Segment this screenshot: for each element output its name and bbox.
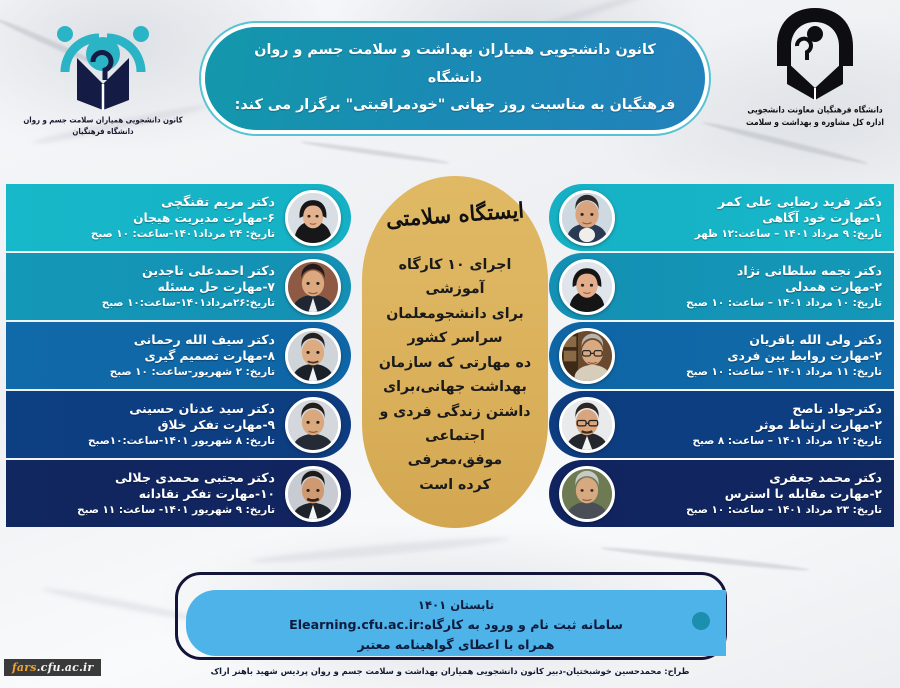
- header-line-1: کانون دانشجویی همیاران بهداشت و سلامت جس…: [231, 37, 679, 93]
- speaker-info: دکتر سید عدنان حسینی ۹-مهارت تفکر خلاق ت…: [14, 401, 285, 448]
- speaker-skill: ۹-مهارت تفکر خلاق: [18, 418, 275, 433]
- capsule-line: برای دانشجومعلمان: [376, 302, 534, 326]
- avatar: [559, 328, 615, 384]
- speaker-name: دکتر محمد جعفری: [625, 470, 882, 486]
- footer-certificate-note: همراه با اعطای گواهینامه معتبر: [204, 635, 708, 655]
- avatar: [285, 466, 341, 522]
- speaker-datetime: تاریخ: ۱۲ مرداد ۱۴۰۱ – ساعت: ۸ صبح: [625, 435, 882, 448]
- speaker-info: دکتر مجتبی محمدی جلالی ۱۰-مهارت تفکر نقا…: [14, 470, 285, 517]
- avatar: [285, 397, 341, 453]
- avatar-valiollah-bagherian: [562, 331, 612, 381]
- capsule-line: داشتن زندگی فردی و: [376, 400, 534, 424]
- capsule-line: اجتماعی موفق،معرفی: [376, 424, 534, 473]
- speaker-skill: ۸-مهارت تصمیم گیری: [18, 349, 275, 364]
- speaker-name: دکترجواد ناصح: [625, 401, 882, 417]
- speaker-info: دکتر نجمه سلطانی نژاد ۲-مهارت همدلی تاری…: [615, 263, 886, 310]
- speaker-card[interactable]: دکتر سیف الله رحمانی ۸-مهارت تصمیم گیری …: [6, 322, 351, 389]
- designer-credit: طراح: محمدحسین خوشبختیان-دبیر کانون دانش…: [0, 666, 900, 676]
- avatar-mojtaba-mohammadi-jalali: [288, 469, 338, 519]
- avatar-farid-rezaei-ali-kamar: [562, 193, 612, 243]
- speaker-card[interactable]: دکتر احمدعلی تاجدین ۷-مهارت حل مسئله تار…: [6, 253, 351, 320]
- capsule-line: ده مهارتی که سازمان: [376, 351, 534, 375]
- speaker-skill: ۲-مهارت روابط بین فردی: [625, 349, 882, 364]
- speaker-datetime: تاریخ: ۱۰ مرداد ۱۴۰۱ – ساعت: ۱۰ صبح: [625, 297, 882, 310]
- speaker-name: دکتر ولی الله باقریان: [625, 332, 882, 348]
- footer-season: تابستان ۱۴۰۱: [204, 596, 708, 615]
- avatar: [285, 259, 341, 315]
- speaker-skill: ۲-مهارت همدلی: [625, 280, 882, 295]
- speaker-datetime: تاریخ: ۹ شهریور ۱۴۰۱- ساعت: ۱۱ صبح: [18, 504, 275, 517]
- health-station-capsule: ایستگاه سلامتی اجرای ۱۰ کارگاه آموزشی بر…: [362, 176, 548, 528]
- left-speaker-column: دکتر مریم تفنگچی ۶-مهارت مدیریت هیجان تا…: [6, 184, 351, 529]
- speaker-name: دکتر سید عدنان حسینی: [18, 401, 275, 417]
- capsule-line: سراسر کشور: [376, 326, 534, 350]
- university-logo: دانشگاه فرهنگیان معاونت دانشجویی اداره ک…: [740, 4, 890, 128]
- association-logo-caption: کانون دانشجویی همیاران سلامت جسم و روان …: [18, 114, 188, 137]
- watermark-suffix: .cfu.ac.ir: [37, 661, 94, 674]
- avatar-mohammad-jafari: [562, 469, 612, 519]
- speaker-datetime: تاریخ:۲۶مرداد۱۴۰۱-ساعت:۱۰ صبح: [18, 297, 275, 310]
- marble-vein: [250, 534, 510, 567]
- speaker-name: دکتر مجتبی محمدی جلالی: [18, 470, 275, 486]
- capsule-title: ایستگاه سلامتی: [375, 197, 534, 233]
- header-title: کانون دانشجویی همیاران بهداشت و سلامت جس…: [205, 37, 705, 121]
- speaker-datetime: تاریخ: ۸ شهریور ۱۴۰۱-ساعت:۱۰صبح: [18, 435, 275, 448]
- speaker-datetime: تاریخ: ۹ مرداد ۱۴۰۱ – ساعت:۱۲ ظهر: [625, 228, 882, 241]
- watermark-prefix: fars: [12, 661, 37, 674]
- speaker-name: دکتر مریم تفنگچی: [18, 194, 275, 210]
- avatar-javad-naseh: [562, 400, 612, 450]
- speaker-datetime: تاریخ: ۲۴ مرداد۱۴۰۱-ساعت: ۱۰ صبح: [18, 228, 275, 241]
- speaker-card[interactable]: دکتر سید عدنان حسینی ۹-مهارت تفکر خلاق ت…: [6, 391, 351, 458]
- capsule-line: بهداشت جهانی،برای: [376, 375, 534, 399]
- university-logo-caption: دانشگاه فرهنگیان معاونت دانشجویی اداره ک…: [740, 104, 890, 129]
- footer-dot-icon: [692, 612, 710, 630]
- avatar-seyed-adnan-hosseini: [288, 400, 338, 450]
- farhangian-university-logo-icon: [767, 4, 863, 104]
- speaker-info: دکتر مریم تفنگچی ۶-مهارت مدیریت هیجان تا…: [14, 194, 285, 241]
- avatar: [559, 259, 615, 315]
- student-health-association-logo-icon: [43, 6, 163, 114]
- speaker-info: دکتر محمد جعفری ۲-مهارت مقابله با استرس …: [615, 470, 886, 517]
- speaker-card[interactable]: دکتر مجتبی محمدی جلالی ۱۰-مهارت تفکر نقا…: [6, 460, 351, 527]
- right-speaker-column: دکتر فرید رضایی علی کمر ۱-مهارت خود آگاه…: [549, 184, 894, 529]
- speaker-card[interactable]: دکتر مریم تفنگچی ۶-مهارت مدیریت هیجان تا…: [6, 184, 351, 251]
- avatar-seifollah-rahmani: [288, 331, 338, 381]
- speaker-skill: ۲-مهارت ارتباط موثر: [625, 418, 882, 433]
- footer-registration-link[interactable]: سامانه ثبت نام و ورود به کارگاه:Elearnin…: [204, 615, 708, 635]
- speaker-datetime: تاریخ: ۲ شهریور-ساعت: ۱۰ صبح: [18, 366, 275, 379]
- speaker-skill: ۲-مهارت مقابله با استرس: [625, 487, 882, 502]
- association-logo: کانون دانشجویی همیاران سلامت جسم و روان …: [18, 6, 188, 136]
- speaker-name: دکتر احمدعلی تاجدین: [18, 263, 275, 279]
- avatar-ahmadali-tajdin: [288, 262, 338, 312]
- speaker-name: دکتر نجمه سلطانی نژاد: [625, 263, 882, 279]
- speaker-card[interactable]: دکتر ولی الله باقریان ۲-مهارت روابط بین …: [549, 322, 894, 389]
- marble-vein: [300, 140, 449, 166]
- speaker-datetime: تاریخ: ۱۱ مرداد ۱۴۰۱ – ساعت: ۱۰ صبح: [625, 366, 882, 379]
- capsule-line: اجرای ۱۰ کارگاه آموزشی: [376, 253, 534, 302]
- avatar: [285, 328, 341, 384]
- avatar: [285, 190, 341, 246]
- speaker-card[interactable]: دکتر فرید رضایی علی کمر ۱-مهارت خود آگاه…: [549, 184, 894, 251]
- speaker-name: دکتر فرید رضایی علی کمر: [625, 194, 882, 210]
- speaker-card[interactable]: دکتر محمد جعفری ۲-مهارت مقابله با استرس …: [549, 460, 894, 527]
- speaker-info: دکتر سیف الله رحمانی ۸-مهارت تصمیم گیری …: [14, 332, 285, 379]
- avatar: [559, 190, 615, 246]
- speaker-card[interactable]: دکترجواد ناصح ۲-مهارت ارتباط موثر تاریخ:…: [549, 391, 894, 458]
- footer-band: تابستان ۱۴۰۱ سامانه ثبت نام و ورود به کا…: [186, 590, 726, 656]
- header-line-2: فرهنگیان به مناسبت روز جهانی "خودمراقبتی…: [231, 92, 679, 120]
- capsule-description: اجرای ۱۰ کارگاه آموزشی برای دانشجومعلمان…: [376, 253, 534, 497]
- poster-canvas: کانون دانشجویی همیاران سلامت جسم و روان …: [0, 0, 900, 688]
- speaker-skill: ۷-مهارت حل مسئله: [18, 280, 275, 295]
- marble-vein: [600, 545, 809, 573]
- speaker-datetime: تاریخ: ۲۳ مرداد ۱۴۰۱ – ساعت: ۱۰ صبح: [625, 504, 882, 517]
- avatar: [559, 466, 615, 522]
- speaker-info: دکتر ولی الله باقریان ۲-مهارت روابط بین …: [615, 332, 886, 379]
- site-watermark: fars.cfu.ac.ir: [4, 659, 101, 676]
- avatar: [559, 397, 615, 453]
- speaker-skill: ۱-مهارت خود آگاهی: [625, 211, 882, 226]
- avatar-najmeh-soltani-nezhad: [562, 262, 612, 312]
- header-banner: کانون دانشجویی همیاران بهداشت و سلامت جس…: [205, 27, 705, 130]
- speaker-skill: ۶-مهارت مدیریت هیجان: [18, 211, 275, 226]
- speaker-skill: ۱۰-مهارت تفکر نقادانه: [18, 487, 275, 502]
- speaker-info: دکتر فرید رضایی علی کمر ۱-مهارت خود آگاه…: [615, 194, 886, 241]
- speaker-card[interactable]: دکتر نجمه سلطانی نژاد ۲-مهارت همدلی تاری…: [549, 253, 894, 320]
- speaker-info: دکترجواد ناصح ۲-مهارت ارتباط موثر تاریخ:…: [615, 401, 886, 448]
- avatar-maryam-tofangchi: [288, 193, 338, 243]
- speaker-info: دکتر احمدعلی تاجدین ۷-مهارت حل مسئله تار…: [14, 263, 285, 310]
- speaker-name: دکتر سیف الله رحمانی: [18, 332, 275, 348]
- capsule-line: کرده است: [376, 473, 534, 497]
